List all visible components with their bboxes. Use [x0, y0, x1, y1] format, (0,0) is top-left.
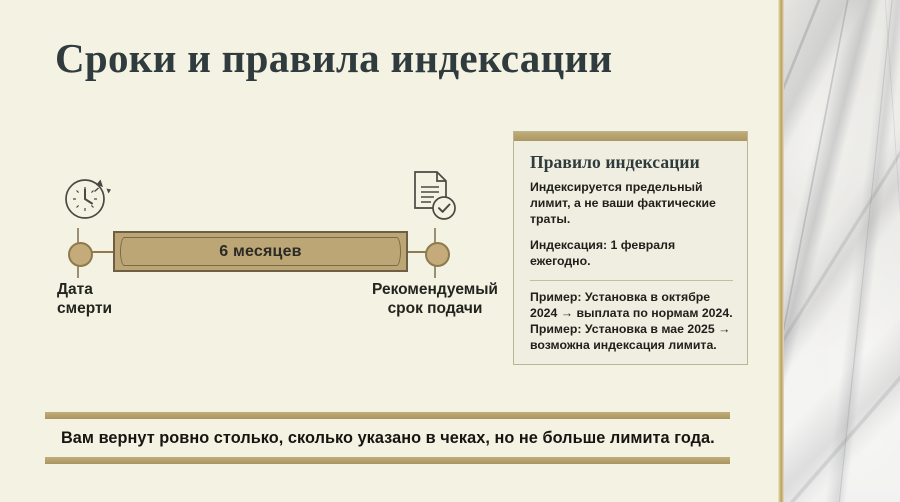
duration-bar: 6 месяцев	[113, 231, 408, 272]
card-examples: Пример: Установка в октябре 2024 → выпла…	[530, 290, 733, 354]
gold-vertical-divider	[778, 0, 784, 502]
timeline-start-label-line2: смерти	[57, 300, 112, 319]
page-title: Сроки и правила индексации	[55, 34, 612, 82]
card-title: Правило индексации	[530, 152, 733, 173]
card-paragraph-1: Индексируется предельный лимит, а не ваш…	[530, 180, 733, 228]
document-check-icon	[408, 168, 460, 226]
banner-top-rule	[45, 412, 730, 419]
indexation-rule-card: Правило индексации Индексируется предель…	[513, 131, 748, 365]
timeline-connector-right	[407, 251, 427, 253]
bottom-banner: Вам вернут ровно столько, сколько указан…	[45, 412, 730, 464]
slide-root: Сроки и правила индексации	[0, 0, 900, 502]
card-divider	[530, 280, 733, 281]
timeline-end-label: Рекомендуемый срок подачи	[352, 281, 518, 319]
card-body: Правило индексации Индексируется предель…	[514, 141, 747, 364]
duration-bar-label: 6 месяцев	[115, 233, 406, 270]
timeline-end-label-line1: Рекомендуемый	[352, 281, 518, 300]
card-top-accent-bar	[514, 132, 747, 141]
banner-bottom-rule	[45, 457, 730, 464]
timeline-end-label-line2: срок подачи	[352, 300, 518, 319]
timeline-node-end	[425, 242, 450, 267]
broken-clock-icon	[60, 168, 116, 224]
card-paragraph-2: Индексация: 1 февраля ежегодно.	[530, 238, 733, 270]
timeline-node-start	[68, 242, 93, 267]
timeline-start-label-line1: Дата	[57, 281, 112, 300]
marble-decoration-panel	[782, 0, 900, 502]
timeline-start-label: Дата смерти	[57, 281, 112, 319]
banner-text: Вам вернут ровно столько, сколько указан…	[61, 419, 730, 457]
